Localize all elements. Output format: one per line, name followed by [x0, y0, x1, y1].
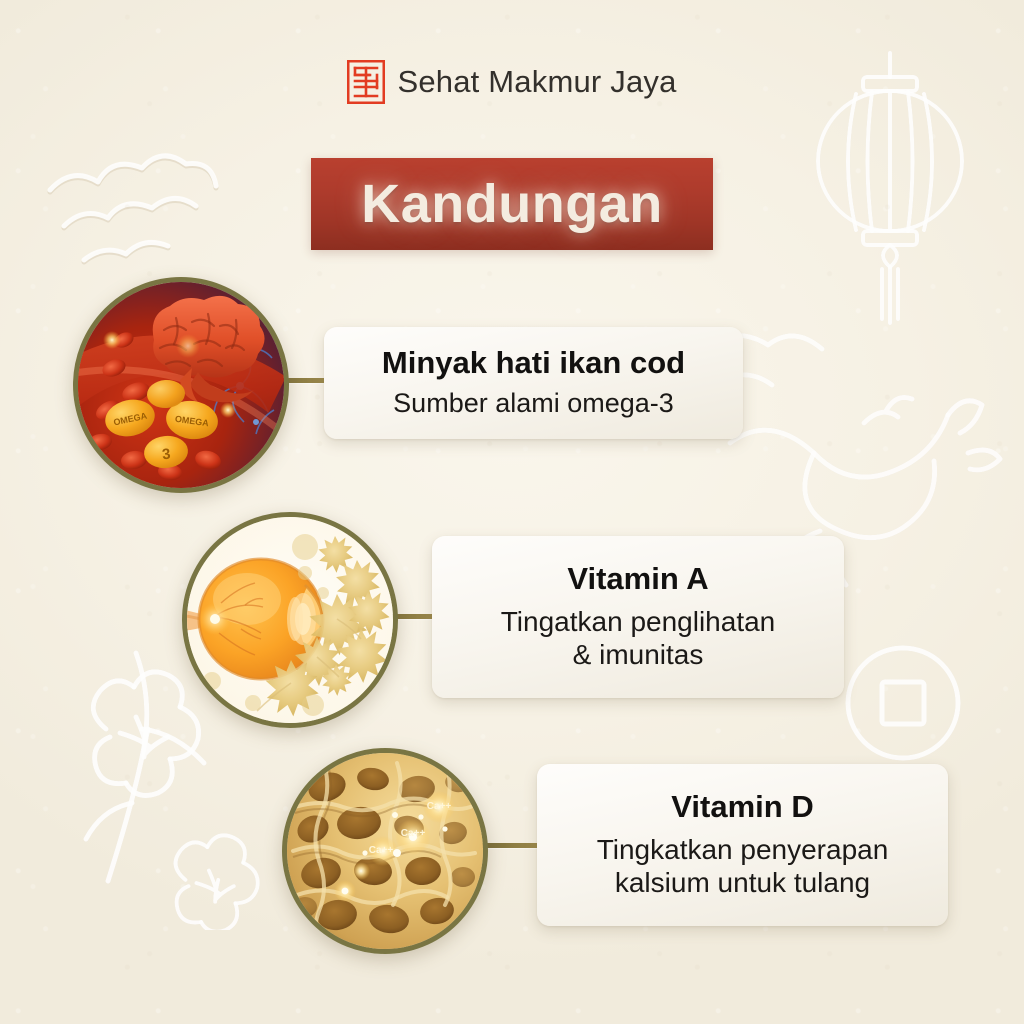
- infographic-poster: Sehat Makmur Jaya Kandungan: [0, 0, 1024, 1024]
- coin-watermark: [838, 638, 968, 768]
- content-card-vitamin-a[interactable]: Vitamin A Tingatkan penglihatan & imunit…: [432, 536, 844, 698]
- bone-calcium-illustration: Ca++ Ca++ Ca++: [287, 753, 483, 949]
- content-card-vitamin-d[interactable]: Vitamin D Tingkatkan penyerapan kalsium …: [537, 764, 948, 926]
- illustration-circle-vitamin-d: Ca++ Ca++ Ca++: [282, 748, 488, 954]
- illustration-circle-vitamin-a: [182, 512, 398, 728]
- card-title: Vitamin D: [671, 790, 813, 825]
- content-card-omega3[interactable]: Minyak hati ikan cod Sumber alami omega-…: [324, 327, 743, 439]
- calcium-ion-label-1: Ca++: [401, 828, 426, 839]
- page-title: Kandungan: [361, 173, 662, 235]
- eye-immune-cells-illustration: [187, 517, 393, 723]
- title-banner: Kandungan: [311, 158, 713, 250]
- seal-mark-icon: [347, 60, 385, 104]
- calcium-ion-label-3: Ca++: [427, 801, 452, 812]
- card-subtitle-line-1: Tingatkan penglihatan: [501, 605, 776, 639]
- calcium-ion-label-2: Ca++: [369, 845, 394, 856]
- illustration-circle-omega3: OMEGA OMEGA 3: [73, 277, 289, 493]
- card-title: Vitamin A: [567, 562, 708, 597]
- card-subtitle-line-2: & imunitas: [573, 638, 704, 672]
- brain-blood-omega3-illustration: OMEGA OMEGA 3: [78, 282, 284, 488]
- card-subtitle-line-1: Tingkatkan penyerapan: [597, 833, 889, 867]
- omega-capsule-label-3: 3: [161, 446, 171, 464]
- card-title: Minyak hati ikan cod: [382, 346, 685, 381]
- card-subtitle-line-2: kalsium untuk tulang: [615, 866, 870, 900]
- brand-name: Sehat Makmur Jaya: [397, 64, 676, 100]
- cloud-watermark: [40, 130, 270, 300]
- brand-header: Sehat Makmur Jaya: [0, 60, 1024, 104]
- card-subtitle: Sumber alami omega-3: [393, 387, 674, 419]
